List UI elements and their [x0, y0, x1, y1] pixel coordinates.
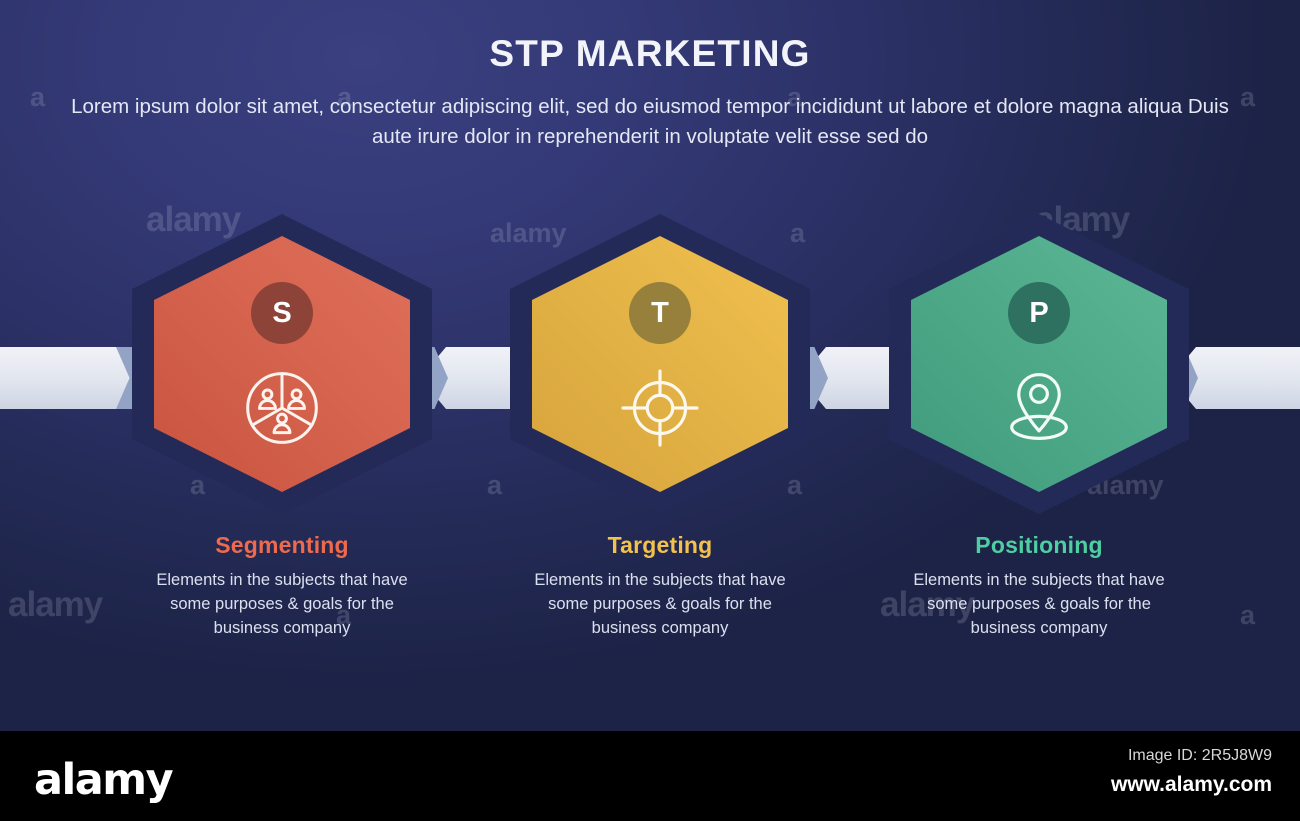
step-title-targeting: Targeting: [490, 532, 830, 559]
badge-letter: P: [1029, 299, 1048, 328]
step-title-positioning: Positioning: [869, 532, 1209, 559]
watermark-a: a: [30, 82, 45, 113]
badge-positioning: P: [1008, 282, 1070, 344]
crosshair-target-icon: [616, 364, 704, 452]
alamy-footer-bar: alamy Image ID: 2R5J8W9 www.alamy.com: [0, 731, 1300, 821]
location-pin-icon: [995, 364, 1083, 452]
hexagon-targeting[interactable]: T: [510, 214, 810, 514]
step-title-segmenting: Segmenting: [112, 532, 452, 559]
step-card-positioning[interactable]: P Positioning Elements in the subjects: [869, 214, 1209, 640]
image-id-label: Image ID: 2R5J8W9: [972, 747, 1272, 765]
watermark-alamy: alamy: [8, 585, 102, 625]
step-description-segmenting: Elements in the subjects that have some …: [112, 568, 452, 640]
badge-letter: S: [272, 299, 291, 328]
alamy-url-label: www.alamy.com: [972, 773, 1272, 797]
step-card-segmenting[interactable]: S: [112, 214, 452, 640]
watermark-a: a: [1240, 82, 1255, 113]
hexagon-positioning[interactable]: P: [889, 214, 1189, 514]
hexagon-segmenting[interactable]: S: [132, 214, 432, 514]
step-description-targeting: Elements in the subjects that have some …: [490, 568, 830, 640]
page-subtitle: Lorem ipsum dolor sit amet, consectetur …: [60, 92, 1240, 152]
badge-letter: T: [651, 299, 669, 328]
screenshot-root: a a a a alamy alamy alamy a a a a a a a …: [0, 0, 1300, 821]
step-description-positioning: Elements in the subjects that have some …: [869, 568, 1209, 640]
watermark-a: a: [1240, 600, 1255, 631]
badge-segmenting: S: [251, 282, 313, 344]
segmentation-people-icon: [238, 364, 326, 452]
alamy-logo: alamy: [34, 755, 172, 805]
infographic-slide: a a a a alamy alamy alamy a a a a a a a …: [0, 0, 1300, 731]
step-card-targeting[interactable]: T: [490, 214, 830, 640]
badge-targeting: T: [629, 282, 691, 344]
page-title: STP MARKETING: [0, 33, 1300, 75]
